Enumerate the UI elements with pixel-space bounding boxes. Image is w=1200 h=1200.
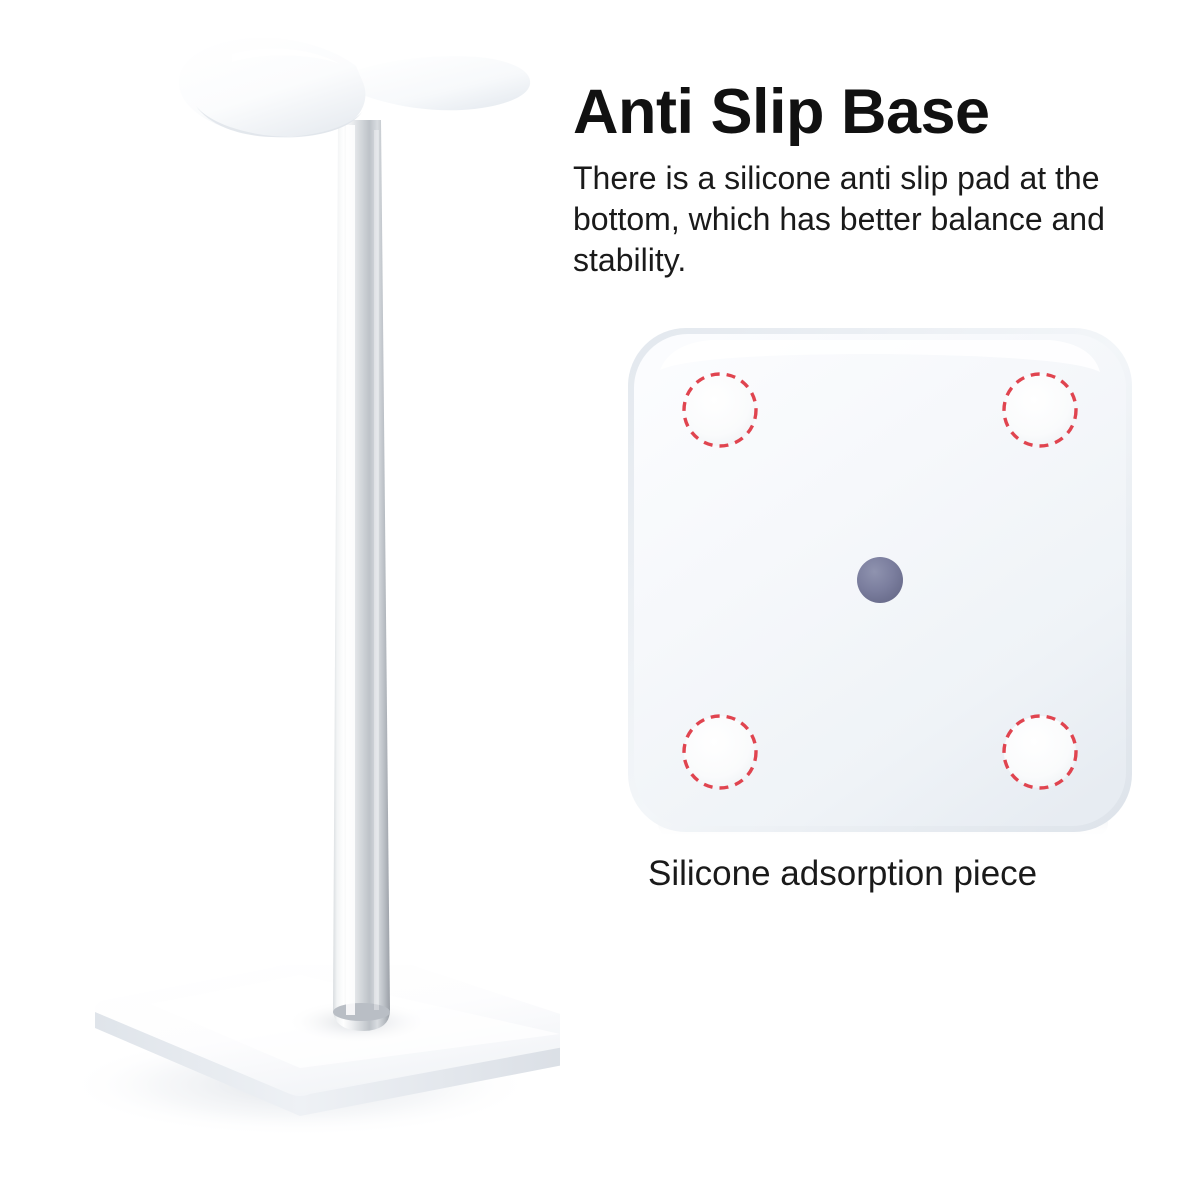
silicone-pad-top-right [1004, 374, 1076, 446]
stand-yoke-right-wing [352, 56, 530, 110]
page-title: Anti Slip Base [573, 78, 1173, 146]
silicone-pad-bottom-right [1004, 716, 1076, 788]
stand-pole-highlight-secondary [374, 130, 379, 1010]
text-block: Anti Slip Base There is a silicone anti … [573, 78, 1173, 281]
stand-pole [333, 120, 390, 1031]
headphone-stand-photo [0, 0, 560, 1200]
base-photo-caption: Silicone adsorption piece [648, 852, 1037, 896]
product-marketing-image: Anti Slip Base There is a silicone anti … [0, 0, 1200, 1200]
anti-slip-base-photo [600, 300, 1160, 860]
silicone-pad-bottom-left [684, 716, 756, 788]
stand-pole-foot [333, 1003, 390, 1021]
silicone-pad-top-left [684, 374, 756, 446]
stand-pole-highlight [346, 125, 355, 1015]
body-copy: There is a silicone anti slip pad at the… [573, 158, 1153, 281]
base-center-screw-cap [857, 557, 903, 603]
